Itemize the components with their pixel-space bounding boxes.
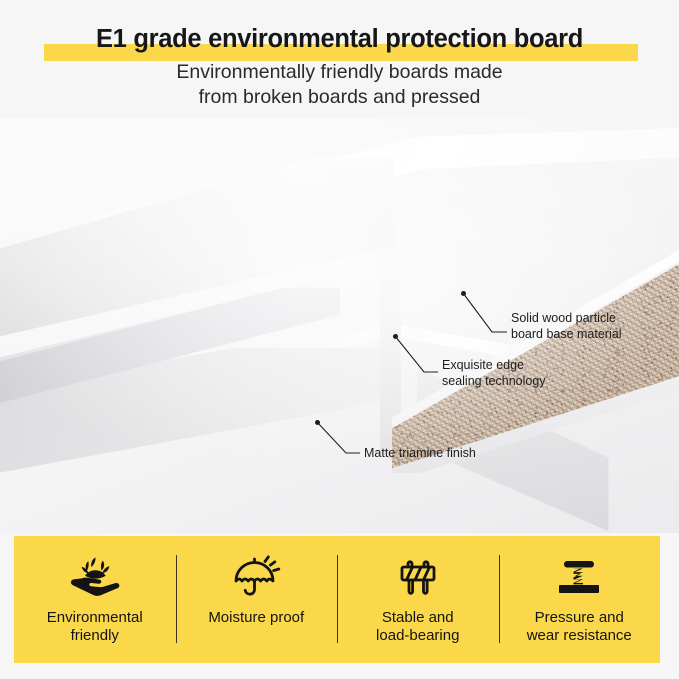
feature-label-environmental-friendly: Environmental friendly — [47, 609, 143, 645]
infographic-stage: E1 grade environmental protection board … — [0, 0, 679, 679]
feature-moisture-proof[interactable]: Moisture proof — [176, 536, 338, 663]
callout-dot-particle-core — [461, 291, 466, 296]
hand-holding-plant-icon — [68, 550, 122, 602]
feature-label-pressure-wear-resistance: Pressure and wear resistance — [527, 609, 632, 645]
barricade-support-icon — [391, 550, 445, 602]
feature-environmental-friendly[interactable]: Environmental friendly — [14, 536, 176, 663]
callout-dot-matte-finish — [315, 420, 320, 425]
feature-bar: Environmental friendly Moisture proof — [14, 536, 660, 663]
feature-label-moisture-proof: Moisture proof — [208, 609, 304, 627]
subtitle: Environmentally friendly boards made fro… — [0, 60, 679, 110]
feature-label-stable-load-bearing: Stable and load-bearing — [376, 609, 459, 645]
feature-pressure-wear-resistance[interactable]: Pressure and wear resistance — [499, 536, 661, 663]
feature-stable-load-bearing[interactable]: Stable and load-bearing — [337, 536, 499, 663]
title-block: E1 grade environmental protection board — [0, 14, 679, 58]
page-title: E1 grade environmental protection board — [0, 27, 679, 53]
callout-label-edge-sealing: Exquisite edge sealing technology — [442, 358, 546, 389]
callout-label-particle-core: Solid wood particle board base material — [511, 311, 621, 342]
callout-label-matte-finish: Matte triamine finish — [364, 446, 476, 462]
callout-dot-edge-sealing — [393, 334, 398, 339]
umbrella-rain-icon — [229, 550, 283, 602]
subtitle-line-1: Environmentally friendly boards made — [0, 60, 679, 85]
compression-press-icon — [552, 550, 606, 602]
header: E1 grade environmental protection board … — [0, 0, 679, 120]
subtitle-line-2: from broken boards and pressed — [0, 85, 679, 110]
